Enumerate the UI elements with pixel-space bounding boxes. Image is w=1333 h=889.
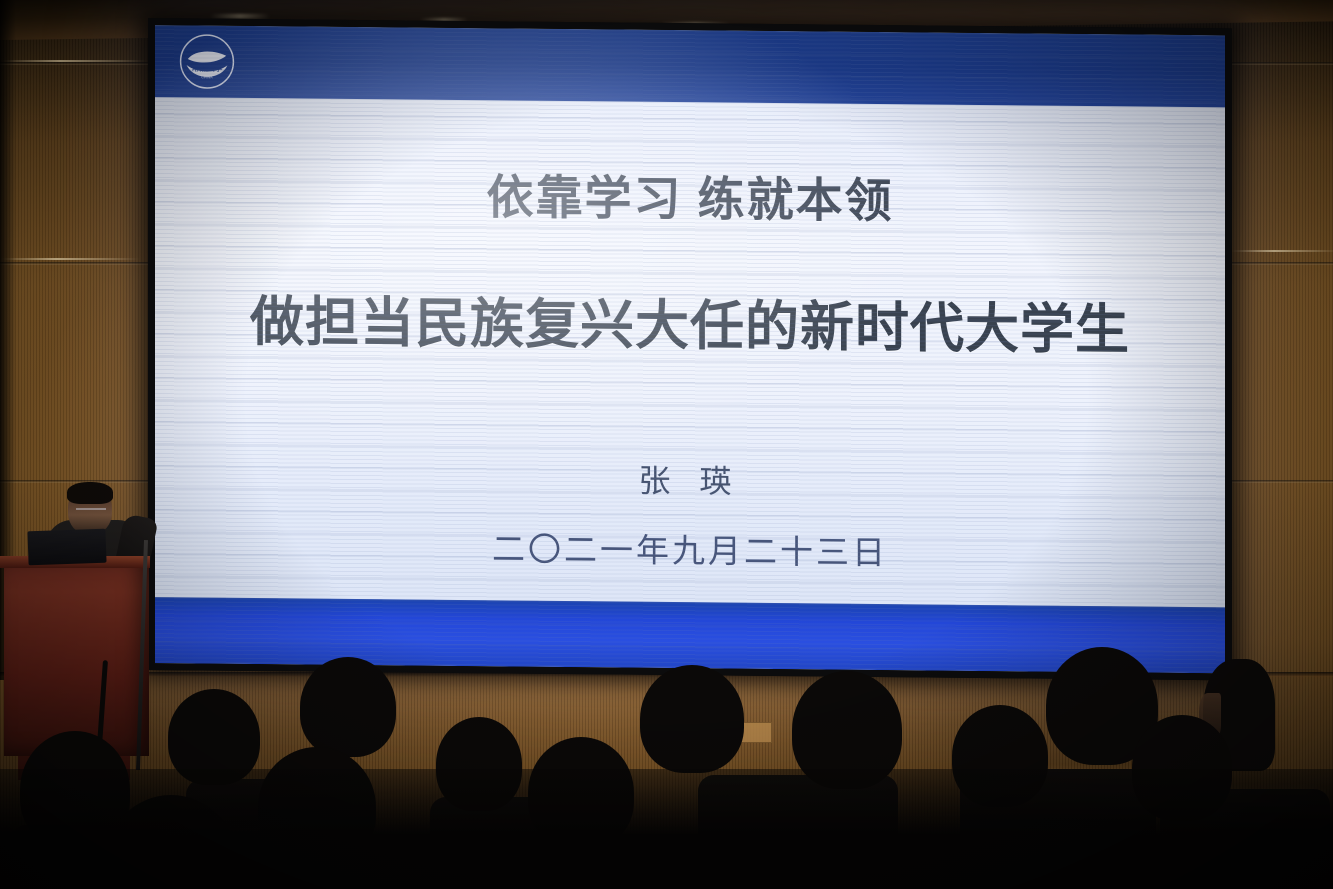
slide-title-line-2: 做担当民族复兴大任的新时代大学生 bbox=[250, 277, 1130, 364]
slide-bottom-band bbox=[155, 597, 1225, 673]
wall-seam-highlight bbox=[0, 60, 150, 62]
projection-screen[interactable]: 常熟大学 CHINA 依靠学习 练就本领 做担当民族复兴大任的新时代大学生 张 … bbox=[148, 18, 1232, 680]
presenter-eyeglasses bbox=[76, 508, 106, 517]
presenter-laptop[interactable] bbox=[27, 529, 106, 566]
lecture-hall-scene: 常熟大学 CHINA 依靠学习 练就本领 做担当民族复兴大任的新时代大学生 张 … bbox=[0, 0, 1333, 889]
svg-text:常熟大学: 常熟大学 bbox=[191, 63, 222, 73]
wall-seam-highlight bbox=[1230, 250, 1333, 252]
slide-content: 依靠学习 练就本领 做担当民族复兴大任的新时代大学生 张 瑛 二〇二一年九月二十… bbox=[155, 97, 1225, 607]
svg-text:CHINA: CHINA bbox=[201, 75, 213, 79]
slide-date: 二〇二一年九月二十三日 bbox=[492, 522, 888, 574]
wall-power-outlet bbox=[740, 722, 772, 743]
university-crest-logo: 常熟大学 CHINA bbox=[177, 31, 237, 92]
presenter-hair bbox=[67, 482, 113, 504]
slide-title-line-1: 依靠学习 练就本领 bbox=[486, 158, 893, 231]
slide-presenter-name: 张 瑛 bbox=[639, 456, 742, 503]
presentation-slide: 常熟大学 CHINA 依靠学习 练就本领 做担当民族复兴大任的新时代大学生 张 … bbox=[155, 25, 1225, 673]
wall-seam-highlight bbox=[0, 258, 140, 260]
wooden-lectern bbox=[4, 556, 149, 756]
slide-top-band: 常熟大学 CHINA bbox=[155, 25, 1225, 107]
